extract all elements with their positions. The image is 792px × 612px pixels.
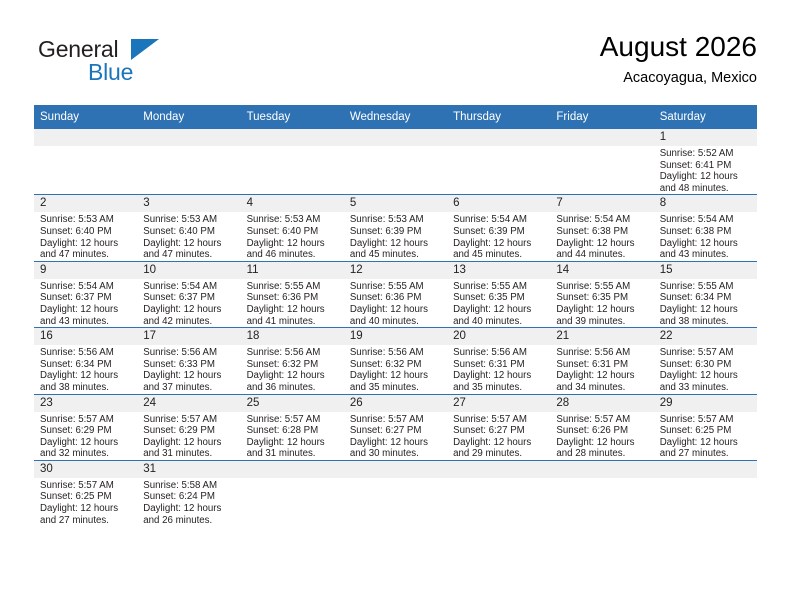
day-number	[344, 129, 447, 146]
info-daylight-line2: and 43 minutes.	[40, 316, 132, 328]
calendar-cell-empty	[550, 129, 653, 195]
info-sunrise: Sunrise: 5:54 AM	[40, 281, 132, 293]
info-daylight-line1: Daylight: 12 hours	[556, 238, 648, 250]
info-daylight-line1: Daylight: 12 hours	[556, 304, 648, 316]
info-sunset: Sunset: 6:30 PM	[660, 359, 752, 371]
day-number	[241, 129, 344, 146]
info-sunset: Sunset: 6:27 PM	[350, 425, 442, 437]
info-sunset: Sunset: 6:32 PM	[350, 359, 442, 371]
page-subtitle: Acacoyagua, Mexico	[600, 68, 757, 88]
calendar-week-row: 16Sunrise: 5:56 AMSunset: 6:34 PMDayligh…	[34, 328, 757, 394]
day-sun-info: Sunrise: 5:57 AMSunset: 6:29 PMDaylight:…	[34, 412, 137, 460]
calendar-day-cell[interactable]: 28Sunrise: 5:57 AMSunset: 6:26 PMDayligh…	[550, 394, 653, 460]
calendar-day-cell[interactable]: 7Sunrise: 5:54 AMSunset: 6:38 PMDaylight…	[550, 195, 653, 261]
info-daylight-line2: and 26 minutes.	[143, 515, 235, 527]
calendar-cell-empty	[447, 129, 550, 195]
day-sun-info: Sunrise: 5:55 AMSunset: 6:35 PMDaylight:…	[447, 279, 550, 327]
info-sunrise: Sunrise: 5:57 AM	[453, 414, 545, 426]
info-sunrise: Sunrise: 5:57 AM	[143, 414, 235, 426]
info-sunset: Sunset: 6:25 PM	[40, 491, 132, 503]
info-sunrise: Sunrise: 5:54 AM	[453, 214, 545, 226]
info-daylight-line2: and 35 minutes.	[453, 382, 545, 394]
day-number: 6	[447, 195, 550, 212]
info-daylight-line2: and 27 minutes.	[660, 448, 752, 460]
info-sunrise: Sunrise: 5:56 AM	[40, 347, 132, 359]
day-number: 8	[654, 195, 757, 212]
calendar-cell-empty	[550, 460, 653, 526]
info-daylight-line1: Daylight: 12 hours	[40, 304, 132, 316]
info-daylight-line1: Daylight: 12 hours	[350, 437, 442, 449]
day-sun-info: Sunrise: 5:53 AMSunset: 6:40 PMDaylight:…	[241, 212, 344, 260]
day-number: 15	[654, 262, 757, 279]
info-sunrise: Sunrise: 5:56 AM	[247, 347, 339, 359]
info-sunset: Sunset: 6:40 PM	[40, 226, 132, 238]
info-sunrise: Sunrise: 5:56 AM	[350, 347, 442, 359]
info-sunrise: Sunrise: 5:55 AM	[247, 281, 339, 293]
info-daylight-line2: and 40 minutes.	[453, 316, 545, 328]
info-daylight-line1: Daylight: 12 hours	[660, 304, 752, 316]
day-sun-info: Sunrise: 5:56 AMSunset: 6:34 PMDaylight:…	[34, 345, 137, 393]
calendar-week-row: 23Sunrise: 5:57 AMSunset: 6:29 PMDayligh…	[34, 394, 757, 460]
info-sunset: Sunset: 6:36 PM	[350, 292, 442, 304]
calendar-cell-empty	[344, 129, 447, 195]
day-number: 31	[137, 461, 240, 478]
logo-text-blue: Blue	[88, 61, 133, 84]
day-sun-info: Sunrise: 5:53 AMSunset: 6:39 PMDaylight:…	[344, 212, 447, 260]
day-sun-info: Sunrise: 5:55 AMSunset: 6:36 PMDaylight:…	[344, 279, 447, 327]
info-sunrise: Sunrise: 5:55 AM	[660, 281, 752, 293]
info-sunset: Sunset: 6:29 PM	[143, 425, 235, 437]
day-sun-info: Sunrise: 5:56 AMSunset: 6:31 PMDaylight:…	[550, 345, 653, 393]
info-sunset: Sunset: 6:37 PM	[143, 292, 235, 304]
info-daylight-line2: and 42 minutes.	[143, 316, 235, 328]
info-sunrise: Sunrise: 5:57 AM	[660, 414, 752, 426]
info-sunset: Sunset: 6:29 PM	[40, 425, 132, 437]
info-daylight-line2: and 43 minutes.	[660, 249, 752, 261]
info-daylight-line2: and 47 minutes.	[40, 249, 132, 261]
info-daylight-line2: and 37 minutes.	[143, 382, 235, 394]
calendar-header-row: SundayMondayTuesdayWednesdayThursdayFrid…	[34, 105, 757, 129]
info-daylight-line1: Daylight: 12 hours	[143, 238, 235, 250]
day-sun-info: Sunrise: 5:52 AMSunset: 6:41 PMDaylight:…	[654, 146, 757, 194]
weekday-header-monday: Monday	[137, 105, 240, 129]
day-number	[137, 129, 240, 146]
info-sunrise: Sunrise: 5:52 AM	[660, 148, 752, 160]
info-daylight-line2: and 48 minutes.	[660, 183, 752, 195]
info-sunset: Sunset: 6:27 PM	[453, 425, 545, 437]
calendar-day-cell[interactable]: 13Sunrise: 5:55 AMSunset: 6:35 PMDayligh…	[447, 261, 550, 327]
info-daylight-line2: and 36 minutes.	[247, 382, 339, 394]
info-daylight-line1: Daylight: 12 hours	[660, 171, 752, 183]
triangle-icon	[131, 39, 159, 60]
day-number: 25	[241, 395, 344, 412]
day-sun-info: Sunrise: 5:55 AMSunset: 6:34 PMDaylight:…	[654, 279, 757, 327]
calendar-body: 1Sunrise: 5:52 AMSunset: 6:41 PMDaylight…	[34, 129, 757, 526]
info-sunset: Sunset: 6:35 PM	[556, 292, 648, 304]
calendar-day-cell[interactable]: 27Sunrise: 5:57 AMSunset: 6:27 PMDayligh…	[447, 394, 550, 460]
day-sun-info: Sunrise: 5:58 AMSunset: 6:24 PMDaylight:…	[137, 478, 240, 526]
info-sunset: Sunset: 6:34 PM	[40, 359, 132, 371]
info-daylight-line2: and 38 minutes.	[40, 382, 132, 394]
calendar-day-cell[interactable]: 1Sunrise: 5:52 AMSunset: 6:41 PMDaylight…	[654, 129, 757, 195]
day-sun-info: Sunrise: 5:57 AMSunset: 6:26 PMDaylight:…	[550, 412, 653, 460]
calendar-day-cell[interactable]: 10Sunrise: 5:54 AMSunset: 6:37 PMDayligh…	[137, 261, 240, 327]
day-sun-info: Sunrise: 5:57 AMSunset: 6:30 PMDaylight:…	[654, 345, 757, 393]
info-daylight-line2: and 32 minutes.	[40, 448, 132, 460]
info-sunset: Sunset: 6:38 PM	[556, 226, 648, 238]
calendar-day-cell[interactable]: 16Sunrise: 5:56 AMSunset: 6:34 PMDayligh…	[34, 328, 137, 394]
day-sun-info: Sunrise: 5:57 AMSunset: 6:25 PMDaylight:…	[34, 478, 137, 526]
calendar-day-cell[interactable]: 22Sunrise: 5:57 AMSunset: 6:30 PMDayligh…	[654, 328, 757, 394]
info-daylight-line1: Daylight: 12 hours	[556, 370, 648, 382]
info-daylight-line2: and 47 minutes.	[143, 249, 235, 261]
info-sunrise: Sunrise: 5:53 AM	[143, 214, 235, 226]
calendar-day-cell[interactable]: 3Sunrise: 5:53 AMSunset: 6:40 PMDaylight…	[137, 195, 240, 261]
calendar-day-cell[interactable]: 18Sunrise: 5:56 AMSunset: 6:32 PMDayligh…	[241, 328, 344, 394]
day-sun-info: Sunrise: 5:56 AMSunset: 6:31 PMDaylight:…	[447, 345, 550, 393]
day-number: 9	[34, 262, 137, 279]
day-number	[447, 129, 550, 146]
info-daylight-line1: Daylight: 12 hours	[40, 238, 132, 250]
info-sunrise: Sunrise: 5:57 AM	[660, 347, 752, 359]
day-number	[550, 461, 653, 478]
info-sunrise: Sunrise: 5:57 AM	[350, 414, 442, 426]
day-sun-info: Sunrise: 5:54 AMSunset: 6:38 PMDaylight:…	[550, 212, 653, 260]
info-sunset: Sunset: 6:39 PM	[350, 226, 442, 238]
weekday-header-saturday: Saturday	[654, 105, 757, 129]
day-number: 20	[447, 328, 550, 345]
day-number: 26	[344, 395, 447, 412]
info-sunset: Sunset: 6:26 PM	[556, 425, 648, 437]
info-daylight-line1: Daylight: 12 hours	[143, 503, 235, 515]
info-sunrise: Sunrise: 5:56 AM	[143, 347, 235, 359]
day-number: 16	[34, 328, 137, 345]
calendar-cell-empty	[34, 129, 137, 195]
weekday-header-thursday: Thursday	[447, 105, 550, 129]
calendar-day-cell[interactable]: 19Sunrise: 5:56 AMSunset: 6:32 PMDayligh…	[344, 328, 447, 394]
info-daylight-line2: and 28 minutes.	[556, 448, 648, 460]
info-sunrise: Sunrise: 5:54 AM	[660, 214, 752, 226]
day-number: 2	[34, 195, 137, 212]
info-sunrise: Sunrise: 5:55 AM	[556, 281, 648, 293]
day-sun-info: Sunrise: 5:56 AMSunset: 6:32 PMDaylight:…	[344, 345, 447, 393]
info-sunset: Sunset: 6:24 PM	[143, 491, 235, 503]
info-daylight-line1: Daylight: 12 hours	[247, 370, 339, 382]
calendar-day-cell[interactable]: 2Sunrise: 5:53 AMSunset: 6:40 PMDaylight…	[34, 195, 137, 261]
calendar-week-row: 30Sunrise: 5:57 AMSunset: 6:25 PMDayligh…	[34, 460, 757, 526]
calendar-day-cell[interactable]: 26Sunrise: 5:57 AMSunset: 6:27 PMDayligh…	[344, 394, 447, 460]
info-sunset: Sunset: 6:40 PM	[143, 226, 235, 238]
calendar-day-cell[interactable]: 9Sunrise: 5:54 AMSunset: 6:37 PMDaylight…	[34, 261, 137, 327]
calendar-page: General Blue August 2026 Acacoyagua, Mex…	[0, 0, 792, 612]
title-block: August 2026 Acacoyagua, Mexico	[600, 30, 757, 88]
day-number: 27	[447, 395, 550, 412]
info-daylight-line2: and 33 minutes.	[660, 382, 752, 394]
day-number	[447, 461, 550, 478]
info-daylight-line2: and 41 minutes.	[247, 316, 339, 328]
info-daylight-line2: and 31 minutes.	[143, 448, 235, 460]
info-daylight-line2: and 45 minutes.	[350, 249, 442, 261]
calendar-day-cell[interactable]: 24Sunrise: 5:57 AMSunset: 6:29 PMDayligh…	[137, 394, 240, 460]
info-daylight-line2: and 35 minutes.	[350, 382, 442, 394]
info-sunrise: Sunrise: 5:55 AM	[350, 281, 442, 293]
day-number: 29	[654, 395, 757, 412]
info-sunrise: Sunrise: 5:53 AM	[247, 214, 339, 226]
info-sunset: Sunset: 6:35 PM	[453, 292, 545, 304]
day-number: 18	[241, 328, 344, 345]
day-number: 11	[241, 262, 344, 279]
info-daylight-line1: Daylight: 12 hours	[350, 370, 442, 382]
day-sun-info: Sunrise: 5:53 AMSunset: 6:40 PMDaylight:…	[34, 212, 137, 260]
info-daylight-line2: and 38 minutes.	[660, 316, 752, 328]
info-sunset: Sunset: 6:39 PM	[453, 226, 545, 238]
logo-text-general: General	[38, 38, 118, 61]
calendar-day-cell[interactable]: 25Sunrise: 5:57 AMSunset: 6:28 PMDayligh…	[241, 394, 344, 460]
calendar-cell-empty	[241, 129, 344, 195]
page-header: General Blue August 2026 Acacoyagua, Mex…	[34, 30, 757, 98]
weekday-header-sunday: Sunday	[34, 105, 137, 129]
info-sunrise: Sunrise: 5:56 AM	[556, 347, 648, 359]
day-sun-info: Sunrise: 5:57 AMSunset: 6:27 PMDaylight:…	[344, 412, 447, 460]
info-sunrise: Sunrise: 5:56 AM	[453, 347, 545, 359]
day-sun-info: Sunrise: 5:53 AMSunset: 6:40 PMDaylight:…	[137, 212, 240, 260]
day-sun-info: Sunrise: 5:56 AMSunset: 6:33 PMDaylight:…	[137, 345, 240, 393]
day-number	[344, 461, 447, 478]
info-sunrise: Sunrise: 5:53 AM	[350, 214, 442, 226]
info-sunset: Sunset: 6:32 PM	[247, 359, 339, 371]
info-sunset: Sunset: 6:34 PM	[660, 292, 752, 304]
info-daylight-line1: Daylight: 12 hours	[660, 238, 752, 250]
info-sunset: Sunset: 6:38 PM	[660, 226, 752, 238]
day-number: 22	[654, 328, 757, 345]
info-daylight-line1: Daylight: 12 hours	[143, 437, 235, 449]
calendar-cell-empty	[137, 129, 240, 195]
info-sunrise: Sunrise: 5:57 AM	[556, 414, 648, 426]
day-sun-info: Sunrise: 5:57 AMSunset: 6:28 PMDaylight:…	[241, 412, 344, 460]
day-sun-info: Sunrise: 5:54 AMSunset: 6:39 PMDaylight:…	[447, 212, 550, 260]
calendar-day-cell[interactable]: 15Sunrise: 5:55 AMSunset: 6:34 PMDayligh…	[654, 261, 757, 327]
calendar-day-cell[interactable]: 21Sunrise: 5:56 AMSunset: 6:31 PMDayligh…	[550, 328, 653, 394]
info-sunset: Sunset: 6:33 PM	[143, 359, 235, 371]
day-number: 14	[550, 262, 653, 279]
info-sunrise: Sunrise: 5:57 AM	[247, 414, 339, 426]
info-sunset: Sunset: 6:37 PM	[40, 292, 132, 304]
info-sunrise: Sunrise: 5:54 AM	[556, 214, 648, 226]
calendar-day-cell[interactable]: 31Sunrise: 5:58 AMSunset: 6:24 PMDayligh…	[137, 460, 240, 526]
calendar-day-cell[interactable]: 14Sunrise: 5:55 AMSunset: 6:35 PMDayligh…	[550, 261, 653, 327]
day-sun-info: Sunrise: 5:54 AMSunset: 6:38 PMDaylight:…	[654, 212, 757, 260]
info-daylight-line2: and 40 minutes.	[350, 316, 442, 328]
day-sun-info: Sunrise: 5:57 AMSunset: 6:29 PMDaylight:…	[137, 412, 240, 460]
day-number: 1	[654, 129, 757, 146]
info-sunrise: Sunrise: 5:55 AM	[453, 281, 545, 293]
day-sun-info: Sunrise: 5:57 AMSunset: 6:27 PMDaylight:…	[447, 412, 550, 460]
info-daylight-line2: and 34 minutes.	[556, 382, 648, 394]
info-daylight-line1: Daylight: 12 hours	[247, 238, 339, 250]
info-daylight-line2: and 39 minutes.	[556, 316, 648, 328]
weekday-header-friday: Friday	[550, 105, 653, 129]
info-daylight-line1: Daylight: 12 hours	[660, 437, 752, 449]
info-sunset: Sunset: 6:28 PM	[247, 425, 339, 437]
info-daylight-line1: Daylight: 12 hours	[453, 370, 545, 382]
info-daylight-line2: and 30 minutes.	[350, 448, 442, 460]
day-number	[241, 461, 344, 478]
day-number: 4	[241, 195, 344, 212]
day-number: 12	[344, 262, 447, 279]
info-sunset: Sunset: 6:41 PM	[660, 160, 752, 172]
day-number: 30	[34, 461, 137, 478]
calendar-week-row: 1Sunrise: 5:52 AMSunset: 6:41 PMDaylight…	[34, 129, 757, 195]
day-sun-info: Sunrise: 5:57 AMSunset: 6:25 PMDaylight:…	[654, 412, 757, 460]
info-daylight-line1: Daylight: 12 hours	[660, 370, 752, 382]
info-daylight-line1: Daylight: 12 hours	[247, 304, 339, 316]
weekday-header-wednesday: Wednesday	[344, 105, 447, 129]
info-daylight-line1: Daylight: 12 hours	[143, 304, 235, 316]
info-sunset: Sunset: 6:31 PM	[556, 359, 648, 371]
general-blue-logo[interactable]: General Blue	[34, 34, 234, 94]
calendar-day-cell[interactable]: 6Sunrise: 5:54 AMSunset: 6:39 PMDaylight…	[447, 195, 550, 261]
day-number: 7	[550, 195, 653, 212]
calendar-cell-empty	[344, 460, 447, 526]
calendar-day-cell[interactable]: 4Sunrise: 5:53 AMSunset: 6:40 PMDaylight…	[241, 195, 344, 261]
info-daylight-line1: Daylight: 12 hours	[453, 238, 545, 250]
info-daylight-line1: Daylight: 12 hours	[40, 503, 132, 515]
info-sunset: Sunset: 6:40 PM	[247, 226, 339, 238]
day-sun-info: Sunrise: 5:55 AMSunset: 6:35 PMDaylight:…	[550, 279, 653, 327]
calendar-day-cell[interactable]: 17Sunrise: 5:56 AMSunset: 6:33 PMDayligh…	[137, 328, 240, 394]
info-sunrise: Sunrise: 5:57 AM	[40, 480, 132, 492]
calendar-week-row: 9Sunrise: 5:54 AMSunset: 6:37 PMDaylight…	[34, 261, 757, 327]
calendar-cell-empty	[447, 460, 550, 526]
info-daylight-line1: Daylight: 12 hours	[350, 304, 442, 316]
info-daylight-line1: Daylight: 12 hours	[350, 238, 442, 250]
calendar-day-cell[interactable]: 11Sunrise: 5:55 AMSunset: 6:36 PMDayligh…	[241, 261, 344, 327]
calendar-day-cell[interactable]: 12Sunrise: 5:55 AMSunset: 6:36 PMDayligh…	[344, 261, 447, 327]
page-title: August 2026	[600, 30, 757, 64]
info-sunset: Sunset: 6:36 PM	[247, 292, 339, 304]
info-daylight-line1: Daylight: 12 hours	[453, 304, 545, 316]
day-sun-info: Sunrise: 5:55 AMSunset: 6:36 PMDaylight:…	[241, 279, 344, 327]
day-sun-info: Sunrise: 5:54 AMSunset: 6:37 PMDaylight:…	[34, 279, 137, 327]
calendar-cell-empty	[654, 460, 757, 526]
info-daylight-line2: and 29 minutes.	[453, 448, 545, 460]
calendar-day-cell[interactable]: 20Sunrise: 5:56 AMSunset: 6:31 PMDayligh…	[447, 328, 550, 394]
day-number: 17	[137, 328, 240, 345]
calendar-day-cell[interactable]: 30Sunrise: 5:57 AMSunset: 6:25 PMDayligh…	[34, 460, 137, 526]
day-number	[654, 461, 757, 478]
info-daylight-line2: and 27 minutes.	[40, 515, 132, 527]
info-daylight-line1: Daylight: 12 hours	[143, 370, 235, 382]
info-daylight-line1: Daylight: 12 hours	[556, 437, 648, 449]
day-number: 23	[34, 395, 137, 412]
day-number: 5	[344, 195, 447, 212]
info-daylight-line1: Daylight: 12 hours	[40, 437, 132, 449]
info-daylight-line2: and 46 minutes.	[247, 249, 339, 261]
info-sunset: Sunset: 6:31 PM	[453, 359, 545, 371]
calendar-cell-empty	[241, 460, 344, 526]
calendar-table: SundayMondayTuesdayWednesdayThursdayFrid…	[34, 105, 757, 526]
info-sunrise: Sunrise: 5:53 AM	[40, 214, 132, 226]
info-daylight-line1: Daylight: 12 hours	[247, 437, 339, 449]
info-sunset: Sunset: 6:25 PM	[660, 425, 752, 437]
calendar-day-cell[interactable]: 5Sunrise: 5:53 AMSunset: 6:39 PMDaylight…	[344, 195, 447, 261]
calendar-day-cell[interactable]: 23Sunrise: 5:57 AMSunset: 6:29 PMDayligh…	[34, 394, 137, 460]
day-number: 24	[137, 395, 240, 412]
day-number: 21	[550, 328, 653, 345]
weekday-header-tuesday: Tuesday	[241, 105, 344, 129]
day-number	[550, 129, 653, 146]
day-number: 3	[137, 195, 240, 212]
day-number: 19	[344, 328, 447, 345]
day-number: 13	[447, 262, 550, 279]
day-number	[34, 129, 137, 146]
calendar-day-cell[interactable]: 8Sunrise: 5:54 AMSunset: 6:38 PMDaylight…	[654, 195, 757, 261]
calendar-day-cell[interactable]: 29Sunrise: 5:57 AMSunset: 6:25 PMDayligh…	[654, 394, 757, 460]
day-number: 10	[137, 262, 240, 279]
info-daylight-line2: and 31 minutes.	[247, 448, 339, 460]
day-number: 28	[550, 395, 653, 412]
info-daylight-line1: Daylight: 12 hours	[40, 370, 132, 382]
day-sun-info: Sunrise: 5:54 AMSunset: 6:37 PMDaylight:…	[137, 279, 240, 327]
day-sun-info: Sunrise: 5:56 AMSunset: 6:32 PMDaylight:…	[241, 345, 344, 393]
info-sunrise: Sunrise: 5:58 AM	[143, 480, 235, 492]
info-daylight-line2: and 45 minutes.	[453, 249, 545, 261]
info-sunrise: Sunrise: 5:54 AM	[143, 281, 235, 293]
info-sunrise: Sunrise: 5:57 AM	[40, 414, 132, 426]
info-daylight-line2: and 44 minutes.	[556, 249, 648, 261]
info-daylight-line1: Daylight: 12 hours	[453, 437, 545, 449]
calendar-week-row: 2Sunrise: 5:53 AMSunset: 6:40 PMDaylight…	[34, 195, 757, 261]
